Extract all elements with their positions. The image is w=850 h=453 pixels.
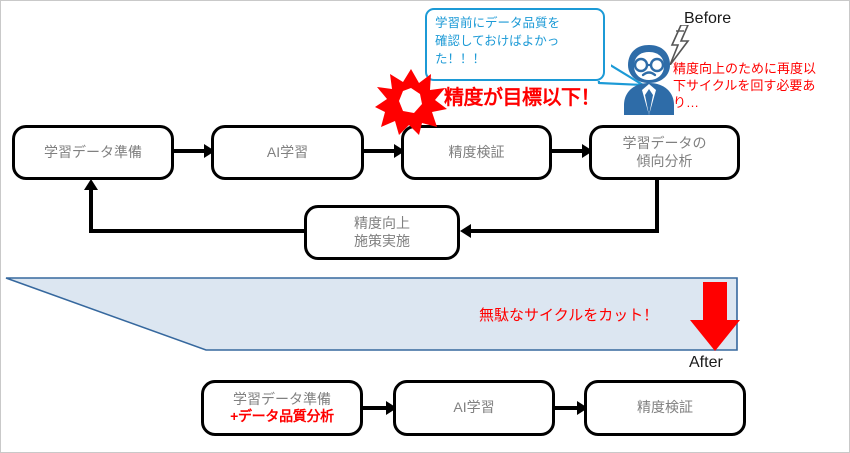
step-label-line1: 学習データの (623, 135, 707, 153)
step-label: AI学習 (453, 399, 494, 417)
step-trend-analysis[interactable]: 学習データの 傾向分析 (589, 125, 740, 180)
step-label-highlight: +データ品質分析 (230, 408, 334, 426)
speech-line-3: た！！！ (435, 51, 596, 69)
arrowhead-trend-to-measures (460, 224, 471, 238)
step-label-line1: 精度向上 (354, 215, 410, 233)
step-ai-training[interactable]: AI学習 (211, 125, 364, 180)
note-line-3: り… (673, 94, 849, 111)
connector-measures-left (89, 229, 304, 233)
step-label-line2: 傾向分析 (637, 153, 693, 171)
before-note: 精度向上のために再度以 下サイクルを回す必要あ り… (673, 60, 849, 111)
step-improvement-measures[interactable]: 精度向上 施策実施 (304, 205, 460, 260)
note-line-2: 下サイクルを回す必要あ (673, 77, 849, 94)
step-label: 学習データ準備 (233, 391, 331, 409)
speech-bubble: 学習前にデータ品質を 確認しておけばよかっ た！！！ (425, 8, 605, 81)
connector-measures-up (89, 190, 93, 233)
step-label-line2: 施策実施 (354, 233, 410, 251)
step-label: 精度検証 (449, 144, 505, 162)
step-prepare-data[interactable]: 学習データ準備 (12, 125, 174, 180)
arrowhead-measures-to-prepare (84, 179, 98, 190)
step-ai-training-after[interactable]: AI学習 (393, 380, 555, 436)
speech-line-1: 学習前にデータ品質を (435, 15, 596, 33)
step-label: 学習データ準備 (44, 144, 142, 162)
after-label: After (689, 354, 723, 372)
person-avatar-icon (618, 43, 680, 115)
connector-trend-left (468, 229, 659, 233)
step-label: 精度検証 (637, 399, 693, 417)
burst-label: 精度が目標以下！ (444, 81, 600, 110)
note-line-1: 精度向上のために再度以 (673, 60, 849, 77)
down-arrow-icon (689, 282, 741, 352)
banner-label: 無駄なサイクルをカット！ (479, 304, 658, 325)
step-accuracy-validation-after[interactable]: 精度検証 (584, 380, 746, 436)
speech-line-2: 確認しておけばよかっ (435, 33, 596, 51)
diagram-canvas: 学習データ準備 AI学習 精度検証 学習データの 傾向分析 精度向上 施策実施 … (0, 0, 850, 453)
starburst-icon (375, 69, 447, 135)
step-prepare-data-plus-quality[interactable]: 学習データ準備 +データ品質分析 (201, 380, 363, 436)
before-label: Before (684, 10, 731, 28)
step-label: AI学習 (267, 144, 308, 162)
connector-trend-down (655, 179, 659, 233)
